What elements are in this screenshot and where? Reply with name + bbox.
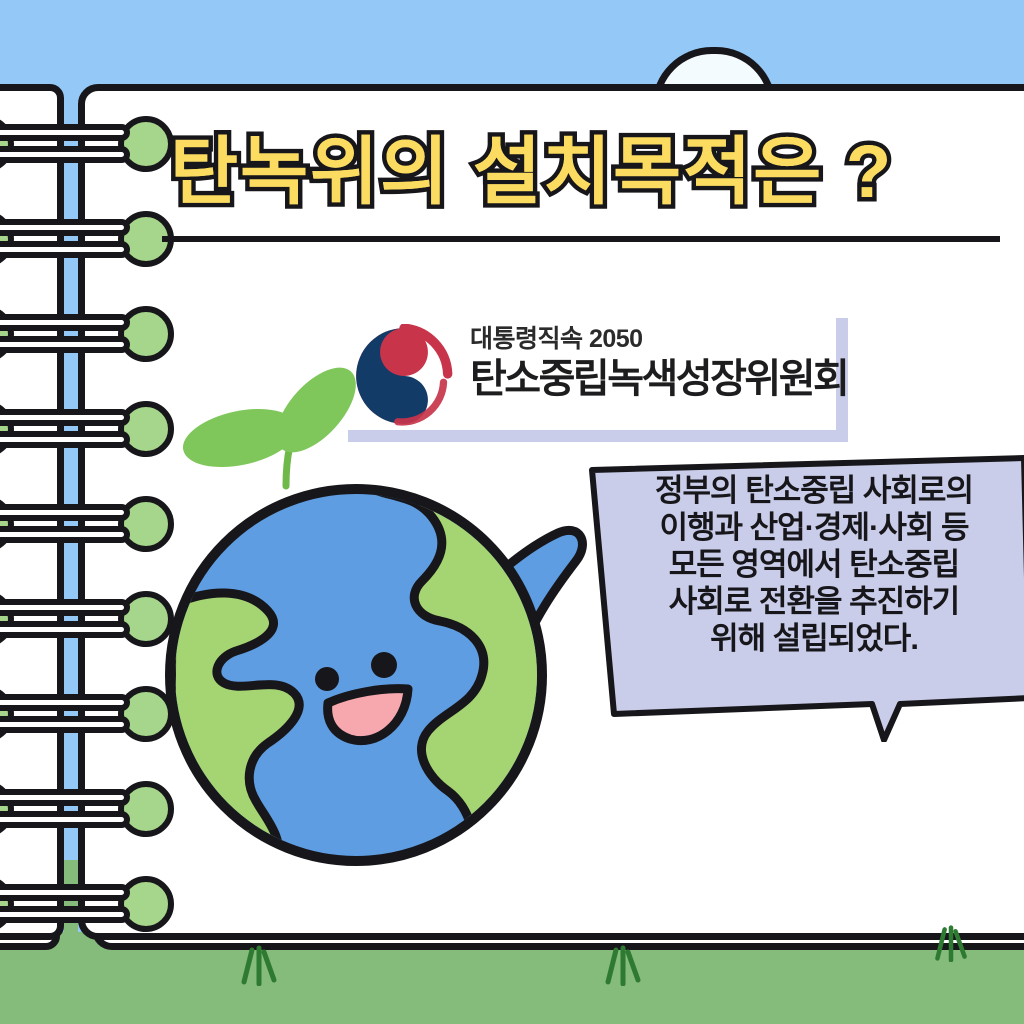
title-divider xyxy=(162,236,1000,242)
spiral-ring xyxy=(0,872,168,936)
spiral-ring-bar xyxy=(0,336,130,353)
spiral-ring xyxy=(0,397,168,461)
spiral-ring-bar xyxy=(0,906,130,923)
spiral-ring-cap-right xyxy=(118,116,174,172)
spiral-ring xyxy=(0,302,168,366)
grass-tuft-icon xyxy=(236,944,282,986)
logo-subtitle: 대통령직속 2050 xyxy=(470,324,847,354)
spiral-ring xyxy=(0,682,168,746)
spiral-ring-cap-right xyxy=(118,876,174,932)
spiral-ring-bar xyxy=(0,504,130,521)
spiral-ring-bar xyxy=(0,716,130,733)
bubble-line-4: 사회로 전환을 추진하기 xyxy=(612,583,1016,620)
logo-text-block: 대통령직속 2050 탄소중립녹색성장위원회 xyxy=(470,324,847,402)
spiral-ring-bar xyxy=(0,431,130,448)
bubble-line-5: 위해 설립되었다. xyxy=(612,620,1016,657)
spiral-ring xyxy=(0,587,168,651)
spiral-ring-bar xyxy=(0,526,130,543)
bubble-line-3: 모든 영역에서 탄소중립 xyxy=(612,546,1016,583)
spiral-ring-bar xyxy=(0,314,130,331)
spiral-ring xyxy=(0,112,168,176)
earth-mascot xyxy=(160,425,590,875)
spiral-ring xyxy=(0,207,168,271)
spiral-ring xyxy=(0,777,168,841)
spiral-ring-bar xyxy=(0,409,130,426)
spiral-ring xyxy=(0,492,168,556)
spiral-ring-cap-right xyxy=(118,306,174,362)
bubble-line-1: 정부의 탄소중립 사회로의 xyxy=(612,472,1016,509)
spiral-ring-bar xyxy=(0,884,130,901)
bubble-line-2: 이행과 산업·경제·사회 등 xyxy=(612,509,1016,546)
spiral-ring-bar xyxy=(0,241,130,258)
spiral-ring-bar xyxy=(0,621,130,638)
grass-tuft-icon xyxy=(600,944,646,986)
speech-bubble-text: 정부의 탄소중립 사회로의 이행과 산업·경제·사회 등 모든 영역에서 탄소중… xyxy=(612,472,1016,657)
spiral-ring-bar xyxy=(0,219,130,236)
infographic-card: 탄녹위의 설치목적은 ? 탄녹위의 설치목적은 ? 대통령직속 2050 탄소중… xyxy=(0,0,1024,1024)
spiral-ring-bar xyxy=(0,124,130,141)
logo-title: 탄소중립녹색성장위원회 xyxy=(470,356,847,402)
grass-tuft-icon xyxy=(928,924,974,962)
spiral-ring-bar xyxy=(0,599,130,616)
spiral-ring-bar xyxy=(0,694,130,711)
spiral-ring-bar xyxy=(0,789,130,806)
page-title: 탄녹위의 설치목적은 ? xyxy=(170,126,990,218)
spiral-ring-bar xyxy=(0,811,130,828)
spiral-ring-bar xyxy=(0,146,130,163)
taegeuk-emblem xyxy=(352,324,456,428)
